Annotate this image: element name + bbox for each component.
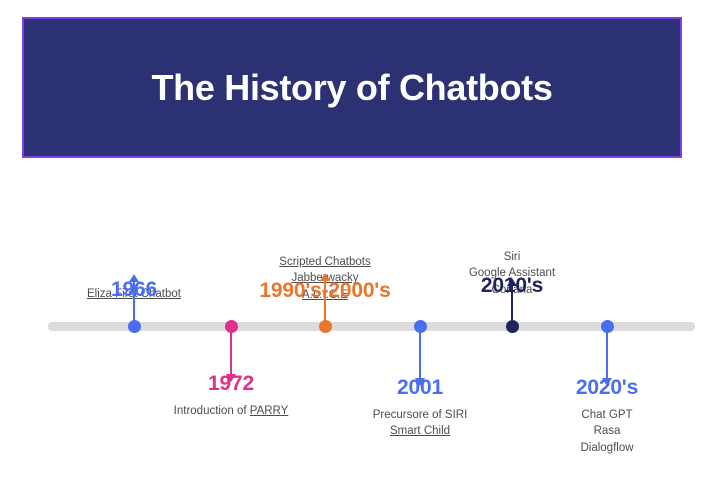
arrow-down-icon [602,378,612,386]
timeline-description: Chat GPTRasaDialogflow [492,407,710,456]
timeline-dot[interactable] [225,320,238,333]
timeline: 1966Eliza First Chatbot1972Introduction … [0,170,710,487]
text-plain: Precursore of SIRI [373,409,468,421]
arrow-down-icon [226,374,236,382]
arrow-up-icon [129,274,139,282]
timeline-dot[interactable] [319,320,332,333]
timeline-dot[interactable] [414,320,427,333]
timeline-description-line: Rasa [492,423,710,439]
text-underlined: PARRY [250,405,289,417]
timeline-label-group: 2020'sChat GPTRasaDialogflow [492,376,710,456]
timeline-connector-line [606,326,608,378]
text-underlined: Smart Child [390,425,450,437]
timeline-connector-line [419,326,421,378]
page-title: The History of Chatbots [151,68,552,108]
text-plain: Introduction of [174,405,250,417]
timeline-dot[interactable] [128,320,141,333]
header-banner: The History of Chatbots [22,17,682,158]
timeline-description-line: Dialogflow [492,440,710,456]
timeline-description-line: Chat GPT [492,407,710,423]
timeline-axis [48,322,695,331]
timeline-description-line: Siri [397,249,627,265]
text-plain: Siri [504,251,521,263]
arrow-up-icon [320,273,330,281]
text-plain: Dialogflow [580,442,633,454]
text-underlined: Scripted Chatbots [279,256,370,268]
text-plain: Rasa [594,425,621,437]
timeline-dot[interactable] [506,320,519,333]
text-plain: Chat GPT [581,409,632,421]
timeline-connector-line [230,326,232,374]
arrow-up-icon [507,278,517,286]
timeline-year-label: 2020's [492,376,710,400]
arrow-down-icon [415,378,425,386]
timeline-dot[interactable] [601,320,614,333]
